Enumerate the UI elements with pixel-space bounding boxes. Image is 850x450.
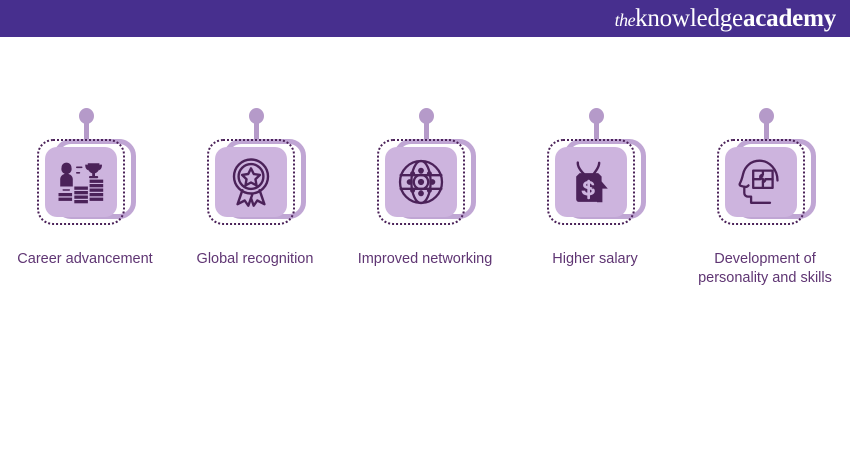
brand-logo-knowledge: knowledge <box>635 5 743 32</box>
icon-tile <box>215 147 287 217</box>
card-graphic <box>203 108 307 230</box>
card-graphic <box>713 108 817 230</box>
icon-tile <box>555 147 627 217</box>
brand-logo[interactable]: theknowledgeacademy <box>615 6 836 31</box>
card-label: Higher salary <box>520 250 670 269</box>
benefit-card-global-recognition[interactable]: Global recognition <box>170 108 340 269</box>
header-bar: theknowledgeacademy <box>0 0 850 37</box>
benefit-card-career-advancement[interactable]: Career advancement <box>0 108 170 269</box>
benefit-card-higher-salary[interactable]: Higher salary <box>510 108 680 269</box>
card-label: Improved networking <box>350 250 500 269</box>
benefit-card-improved-networking[interactable]: Improved networking <box>340 108 510 269</box>
icon-tile <box>45 147 117 217</box>
brand-logo-the: the <box>615 10 636 30</box>
icon-tile <box>385 147 457 217</box>
price-tag-dollar-up-arrow-icon <box>567 157 615 207</box>
card-graphic <box>543 108 647 230</box>
card-label: Development of personality and skills <box>690 250 840 288</box>
head-profile-puzzle-brain-icon <box>738 157 784 207</box>
career-growth-chart-trophy-icon <box>54 160 108 204</box>
globe-network-nodes-icon <box>397 158 445 206</box>
card-graphic <box>373 108 477 230</box>
benefits-card-row: Career advancement Global rec <box>0 108 850 288</box>
award-ribbon-star-icon <box>228 157 274 207</box>
icon-tile <box>725 147 797 217</box>
brand-logo-academy: academy <box>743 5 836 32</box>
card-label: Career advancement <box>10 250 160 269</box>
card-label: Global recognition <box>180 250 330 269</box>
benefit-card-personality-development[interactable]: Development of personality and skills <box>680 108 850 288</box>
card-graphic <box>33 108 137 230</box>
